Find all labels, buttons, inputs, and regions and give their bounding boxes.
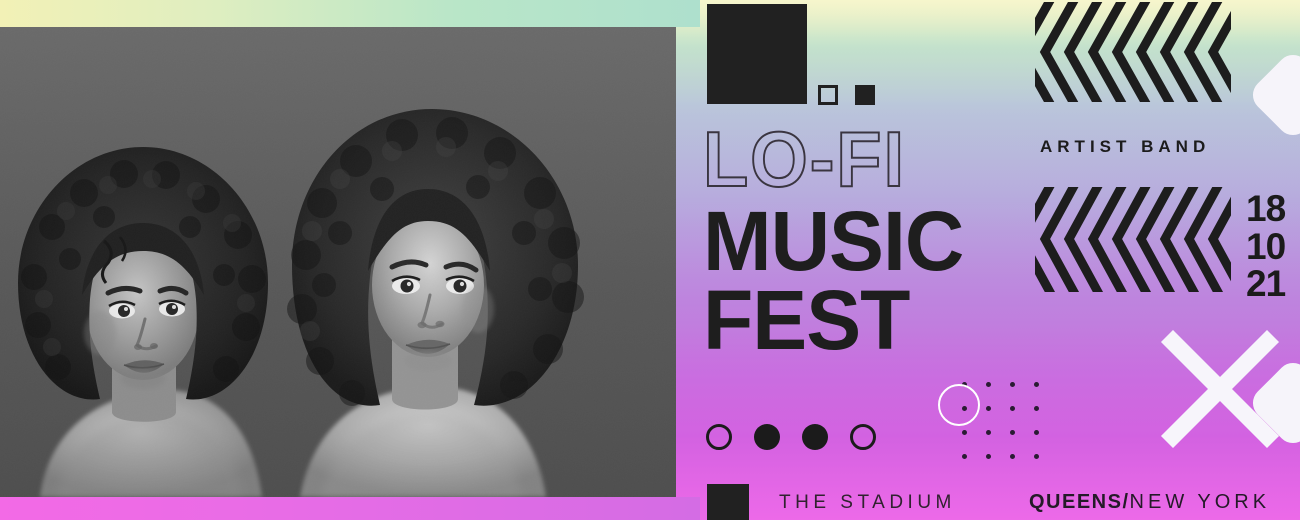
dot bbox=[1034, 382, 1039, 387]
date-day: 18 bbox=[1246, 190, 1285, 228]
dot bbox=[986, 406, 991, 411]
decor-chevron-pattern-top bbox=[1035, 2, 1231, 102]
headline-block: LO-FI MUSIC FEST bbox=[703, 126, 969, 360]
date-year: 21 bbox=[1246, 265, 1285, 303]
dot bbox=[1034, 406, 1039, 411]
date-month: 10 bbox=[1246, 228, 1285, 266]
poster-canvas: LO-FI MUSIC FEST ARTIST BAND bbox=[0, 0, 1300, 520]
decor-square-outline bbox=[818, 85, 838, 105]
dot bbox=[962, 454, 967, 459]
artist-band-label: ARTIST BAND bbox=[1040, 137, 1210, 157]
decor-circle-outline-1 bbox=[706, 424, 732, 450]
dot bbox=[986, 454, 991, 459]
venue-label: THE STADIUM bbox=[779, 492, 956, 514]
dot bbox=[1010, 406, 1015, 411]
city-secondary: NEW YORK bbox=[1130, 491, 1271, 513]
decor-circle-filled-2 bbox=[802, 424, 828, 450]
city-primary: QUEENS/ bbox=[1029, 491, 1130, 513]
decor-circle-ring-icon bbox=[938, 384, 980, 426]
portrait-photo bbox=[0, 27, 676, 497]
dot bbox=[986, 430, 991, 435]
dot bbox=[1010, 430, 1015, 435]
dot bbox=[986, 382, 991, 387]
city-label: QUEENS/NEW YORK bbox=[1029, 491, 1270, 514]
event-date: 18 10 21 bbox=[1246, 190, 1285, 303]
dot bbox=[1010, 454, 1015, 459]
dot bbox=[962, 430, 967, 435]
decor-circle-row bbox=[706, 424, 876, 450]
decor-square-bottom bbox=[707, 484, 749, 520]
decor-chevron-pattern-middle bbox=[1035, 187, 1231, 292]
decor-square-large bbox=[707, 4, 807, 104]
decor-square-small bbox=[855, 85, 875, 105]
title-lofi: LO-FI bbox=[703, 126, 955, 193]
dot bbox=[1010, 382, 1015, 387]
decor-circle-filled-1 bbox=[754, 424, 780, 450]
title-fest: FEST bbox=[703, 282, 963, 359]
top-left-mint-strip bbox=[0, 0, 700, 27]
decor-circle-outline-2 bbox=[850, 424, 876, 450]
dot bbox=[1034, 430, 1039, 435]
title-music: MUSIC bbox=[703, 203, 963, 280]
dot bbox=[1034, 454, 1039, 459]
bottom-left-pink-strip bbox=[0, 497, 700, 520]
